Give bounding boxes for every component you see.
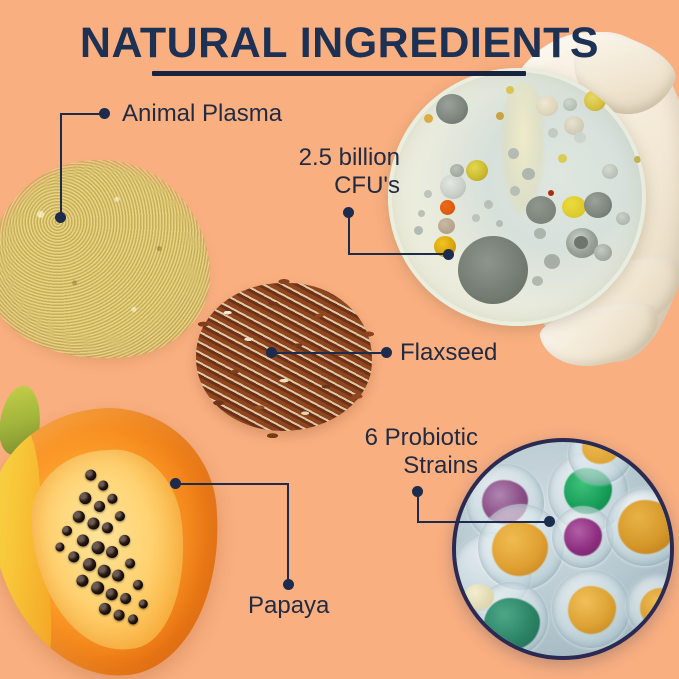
leader-line-papaya-horizontal	[175, 483, 289, 485]
callout-dot-papaya-target	[170, 478, 181, 489]
leader-line-papaya-vertical	[287, 483, 289, 583]
leader-line-cfu-vertical	[348, 212, 350, 254]
callout-dot-cfu-label	[343, 207, 354, 218]
callout-label-animal-plasma: Animal Plasma	[122, 100, 282, 128]
callout-label-cfu-line2: CFU's	[240, 172, 400, 200]
callout-dot-animal-plasma-label	[99, 108, 110, 119]
petri-dish	[388, 68, 646, 326]
culture-amber-right	[618, 500, 674, 554]
leader-line-flaxseed-horizontal	[271, 352, 387, 354]
papaya-flesh	[0, 399, 230, 679]
callout-label-probiotic-line1: 6 Probiotic	[310, 424, 478, 452]
callout-label-cfu-line1: 2.5 billion	[240, 144, 400, 172]
callout-dot-flaxseed-label	[381, 347, 392, 358]
callout-dot-papaya-label	[283, 579, 294, 590]
title-underline	[152, 71, 526, 76]
callout-dot-probiotic-label	[412, 486, 423, 497]
natural-ingredients-infographic: NATURAL INGREDIENTS Animal Plasma 2.5 bi…	[0, 0, 679, 679]
plasma-powder-image	[0, 165, 206, 355]
callout-dot-flaxseed-target	[266, 347, 277, 358]
leader-line-cfu-horizontal	[348, 253, 448, 255]
papaya-image	[0, 368, 249, 679]
callout-dot-animal-plasma-target	[55, 212, 66, 223]
callout-label-papaya: Papaya	[248, 592, 329, 620]
callout-label-probiotic-line2: Strains	[310, 452, 478, 480]
callout-label-flaxseed: Flaxseed	[400, 339, 497, 367]
leader-line-animal-plasma-vertical	[60, 113, 62, 217]
callout-dot-cfu-target	[443, 249, 454, 260]
page-title: NATURAL INGREDIENTS	[0, 22, 679, 65]
petri-dish-image	[376, 54, 679, 364]
culture-amber-edge	[640, 588, 674, 628]
callout-dot-probiotic-target	[544, 516, 555, 527]
well-plate-image	[452, 438, 674, 660]
leader-line-probiotic-horizontal	[417, 521, 552, 523]
